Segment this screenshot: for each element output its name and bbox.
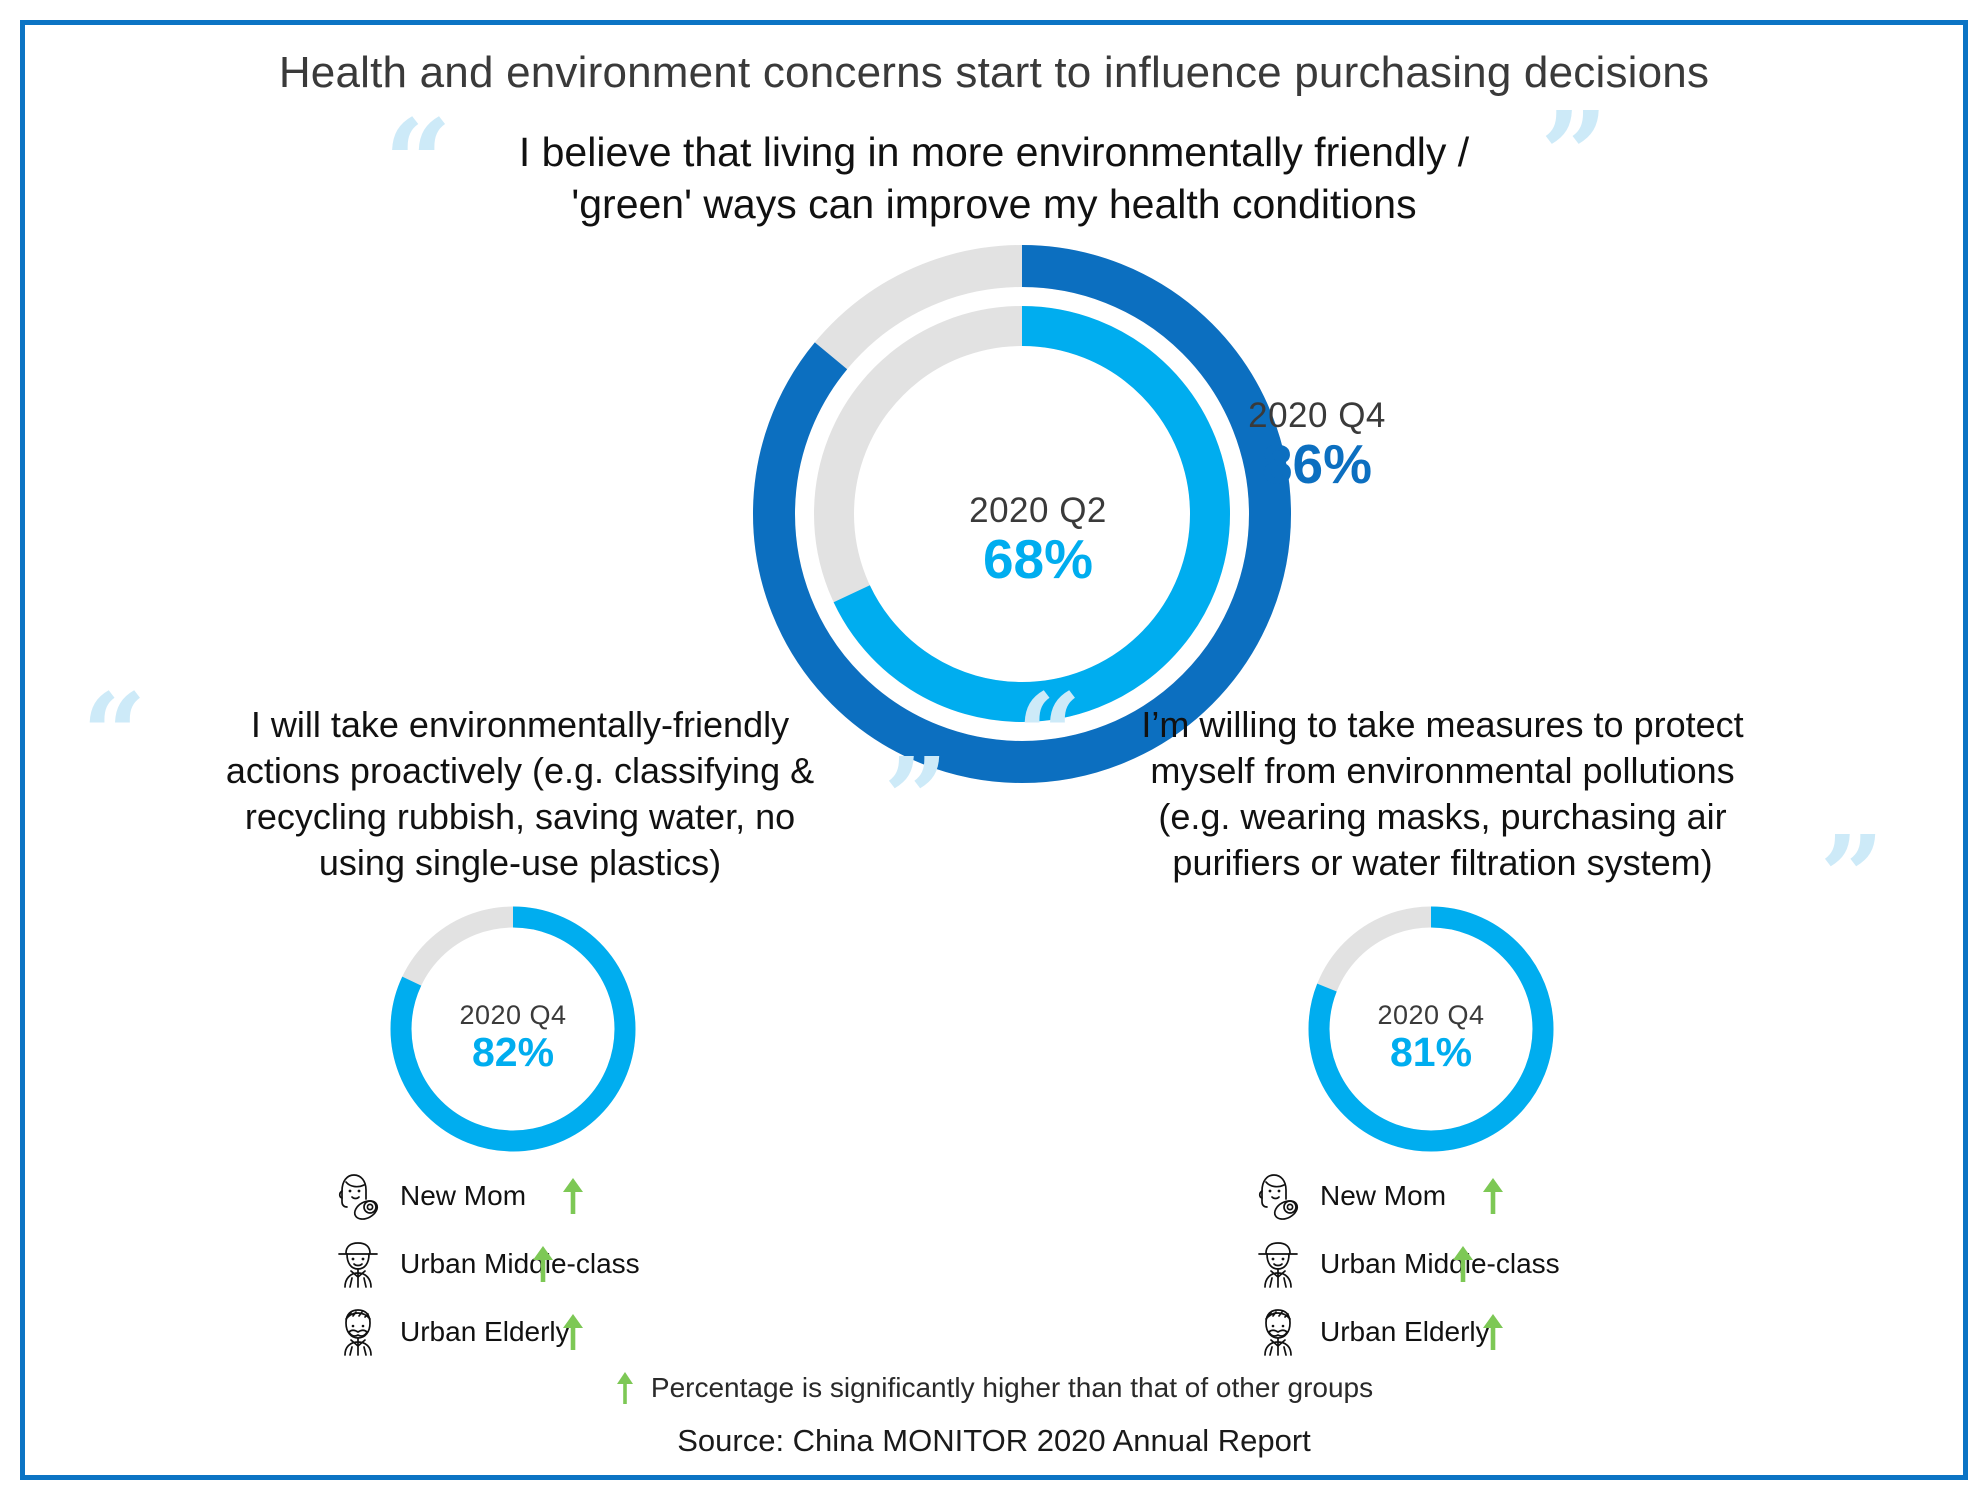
quote-text-bottom-left: I will take environmentally-friendly act… <box>170 702 870 886</box>
new-mom-icon <box>330 1166 386 1226</box>
bottom-left-donut-chart: 2020 Q4 82% <box>382 898 644 1160</box>
up-arrow-icon <box>530 1244 556 1284</box>
main-donut-inner-value: 68% <box>983 531 1093 589</box>
legend-row: Urban Middle-class <box>1250 1230 1670 1298</box>
legend-row: New Mom <box>330 1162 750 1230</box>
bottom-left-donut-period: 2020 Q4 <box>459 1000 566 1031</box>
main-donut-outer-value: 86% <box>1202 436 1432 494</box>
quote-block-top: “ ” I believe that living in more enviro… <box>394 126 1594 231</box>
legend-right: New Mom Urban Middle-class Urban Eld <box>1250 1162 1670 1366</box>
up-arrow-icon <box>530 1244 556 1284</box>
urban-middle-class-icon <box>1250 1234 1306 1294</box>
footnote-note-row: Percentage is significantly higher than … <box>615 1370 1373 1406</box>
legend-row: Urban Middle-class <box>330 1230 750 1298</box>
quote-block-bottom-right: “ ” I’m willing to take measures to prot… <box>1085 702 1800 886</box>
bottom-right-donut-value: 81% <box>1390 1031 1472 1074</box>
quote-open-icon: “ <box>82 680 146 792</box>
urban-middle-class-icon <box>330 1234 386 1294</box>
quote-close-icon: ” <box>1820 822 1884 934</box>
up-arrow-icon <box>560 1176 586 1216</box>
main-donut-inner-period: 2020 Q2 <box>969 491 1107 531</box>
footnote-note-text: Percentage is significantly higher than … <box>651 1372 1373 1404</box>
urban-elderly-icon <box>330 1302 386 1362</box>
up-arrow-icon <box>1480 1312 1506 1352</box>
bottom-left-donut-center-label: 2020 Q4 82% <box>382 906 644 1168</box>
page-title: Health and environment concerns start to… <box>0 48 1988 98</box>
up-arrow-icon <box>1480 1312 1506 1352</box>
legend-item-label: Urban Elderly <box>1320 1316 1490 1348</box>
new-mom-icon <box>1250 1166 1306 1226</box>
legend-row: Urban Elderly <box>330 1298 750 1366</box>
up-arrow-icon <box>1480 1176 1506 1216</box>
bottom-right-donut-chart: 2020 Q4 81% <box>1300 898 1562 1160</box>
legend-item-label: Urban Middle-class <box>1320 1248 1560 1280</box>
quote-open-icon: “ <box>1017 680 1081 792</box>
slide-canvas: Health and environment concerns start to… <box>0 0 1988 1500</box>
up-arrow-icon <box>615 1370 635 1406</box>
bottom-right-donut-period: 2020 Q4 <box>1377 1000 1484 1031</box>
up-arrow-icon <box>560 1312 586 1352</box>
up-arrow-icon <box>1450 1244 1476 1284</box>
up-arrow-icon <box>560 1312 586 1352</box>
legend-row: Urban Elderly <box>1250 1298 1670 1366</box>
legend-item-label: Urban Elderly <box>400 1316 570 1348</box>
bottom-right-donut-center-label: 2020 Q4 81% <box>1300 906 1562 1168</box>
up-arrow-icon <box>560 1176 586 1216</box>
up-arrow-icon <box>1450 1244 1476 1284</box>
quote-text-bottom-right: I’m willing to take measures to protect … <box>1085 702 1800 886</box>
legend-item-label: New Mom <box>400 1180 526 1212</box>
legend-item-label: Urban Middle-class <box>400 1248 640 1280</box>
main-donut-outer-label: 2020 Q4 86% <box>1202 396 1432 494</box>
footnote-source-text: Source: China MONITOR 2020 Annual Report <box>0 1423 1988 1459</box>
quote-text-top: I believe that living in more environmen… <box>394 126 1594 231</box>
bottom-left-donut-value: 82% <box>472 1031 554 1074</box>
legend-row: New Mom <box>1250 1162 1670 1230</box>
legend-item-label: New Mom <box>1320 1180 1446 1212</box>
quote-close-icon: ” <box>884 744 948 856</box>
up-arrow-icon <box>1480 1176 1506 1216</box>
main-donut-outer-period: 2020 Q4 <box>1202 396 1432 436</box>
urban-elderly-icon <box>1250 1302 1306 1362</box>
quote-block-bottom-left: “ ” I will take environmentally-friendly… <box>170 702 870 886</box>
footnote-block: Percentage is significantly higher than … <box>0 1370 1988 1459</box>
legend-left: New Mom Urban Middle-class Urban Eld <box>330 1162 750 1366</box>
